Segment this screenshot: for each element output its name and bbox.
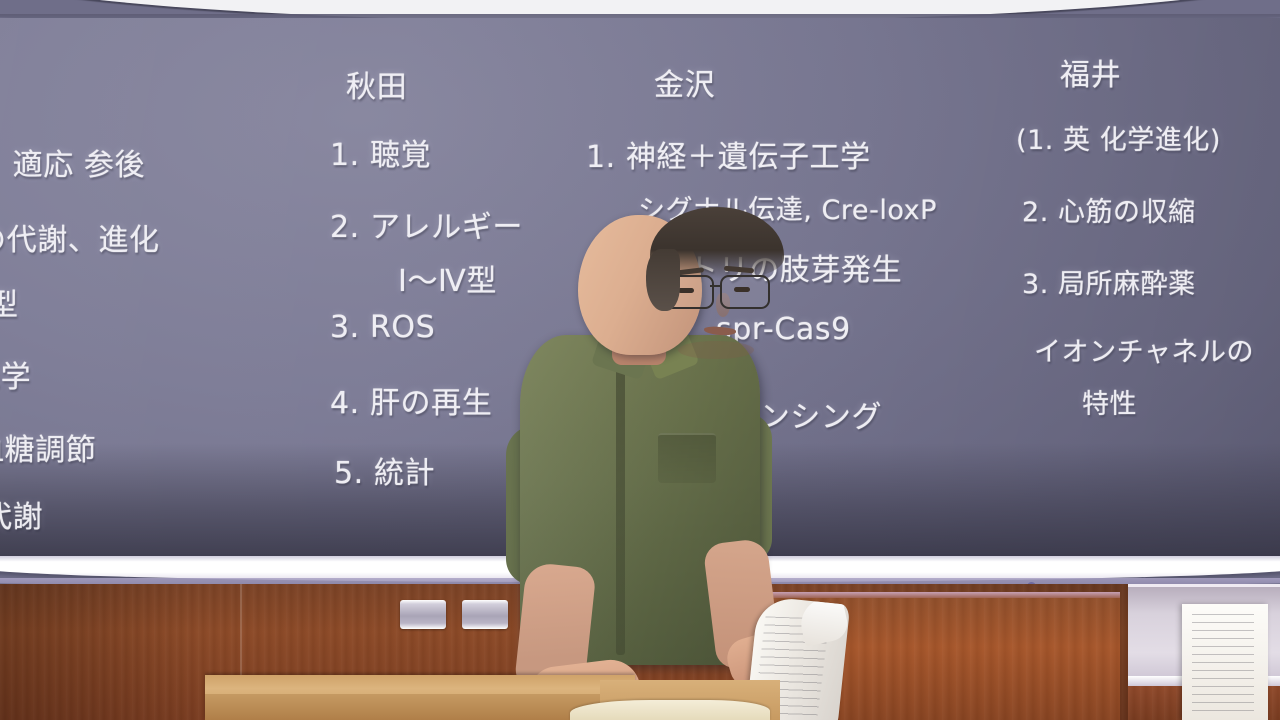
chalk-line-fukui-3: イオンチャネルの [1034,330,1254,369]
chalk-line-kanazawa-0: 1. 神経＋遺伝子工学 [586,132,871,176]
chalk-line-left-partial-5: 代謝 [0,492,43,536]
chalk-line-akita-5: 5. 統計 [334,448,435,492]
chalk-line-left-partial-3: 幾学 [0,352,31,396]
chalk-line-left-partial-1: の代謝、進化 [0,215,160,259]
chalk-line-akita-0: 1. 聴覚 [330,130,431,174]
chalk-line-akita-1: 2. アレルギー [330,202,523,246]
chalk-line-left-partial-4: 血糖調節 [0,425,96,469]
glasses-lens-right [720,275,770,309]
chalk-line-fukui-2: 3. 局所麻酔薬 [1022,262,1196,301]
chalk-line-akita-3: 3. ROS [330,310,435,345]
hair-side [646,249,680,311]
side-paper-sheet [1182,604,1268,720]
head [578,215,702,355]
chin-shadow [678,341,754,359]
chalk-line-fukui-1: 2. 心筋の収縮 [1022,190,1196,229]
shirt-pocket [658,433,716,483]
chalk-line-akita-2: Ⅰ〜Ⅳ型 [398,256,497,300]
side-paper-text-lines [1192,614,1254,714]
lecture-hall-scene: 、適応 参後の代謝、進化型幾学血糖調節代謝秋田1. 聴覚2. アレルギーⅠ〜Ⅳ型… [0,0,1280,720]
chalk-line-fukui-4: 特性 [1082,382,1137,421]
chalk-line-left-partial-0: 、適応 参後 [0,140,145,184]
glasses-bridge [710,285,722,287]
shirt-placket [616,355,625,655]
wall-control-panel[interactable] [400,600,446,629]
chalk-line-left-partial-2: 型 [0,280,19,324]
desk-papers [570,700,770,720]
chalk-line-akita-4: 4. 肝の再生 [330,378,492,422]
chalk-heading-akita: 秋田 [346,62,407,106]
chalk-line-fukui-0: (1. 英 化学進化) [1016,118,1221,157]
eye-left [678,288,694,293]
chalk-heading-fukui: 福井 [1060,50,1121,94]
eye-right [734,287,750,292]
chalk-heading-kanazawa: 金沢 [654,60,715,104]
